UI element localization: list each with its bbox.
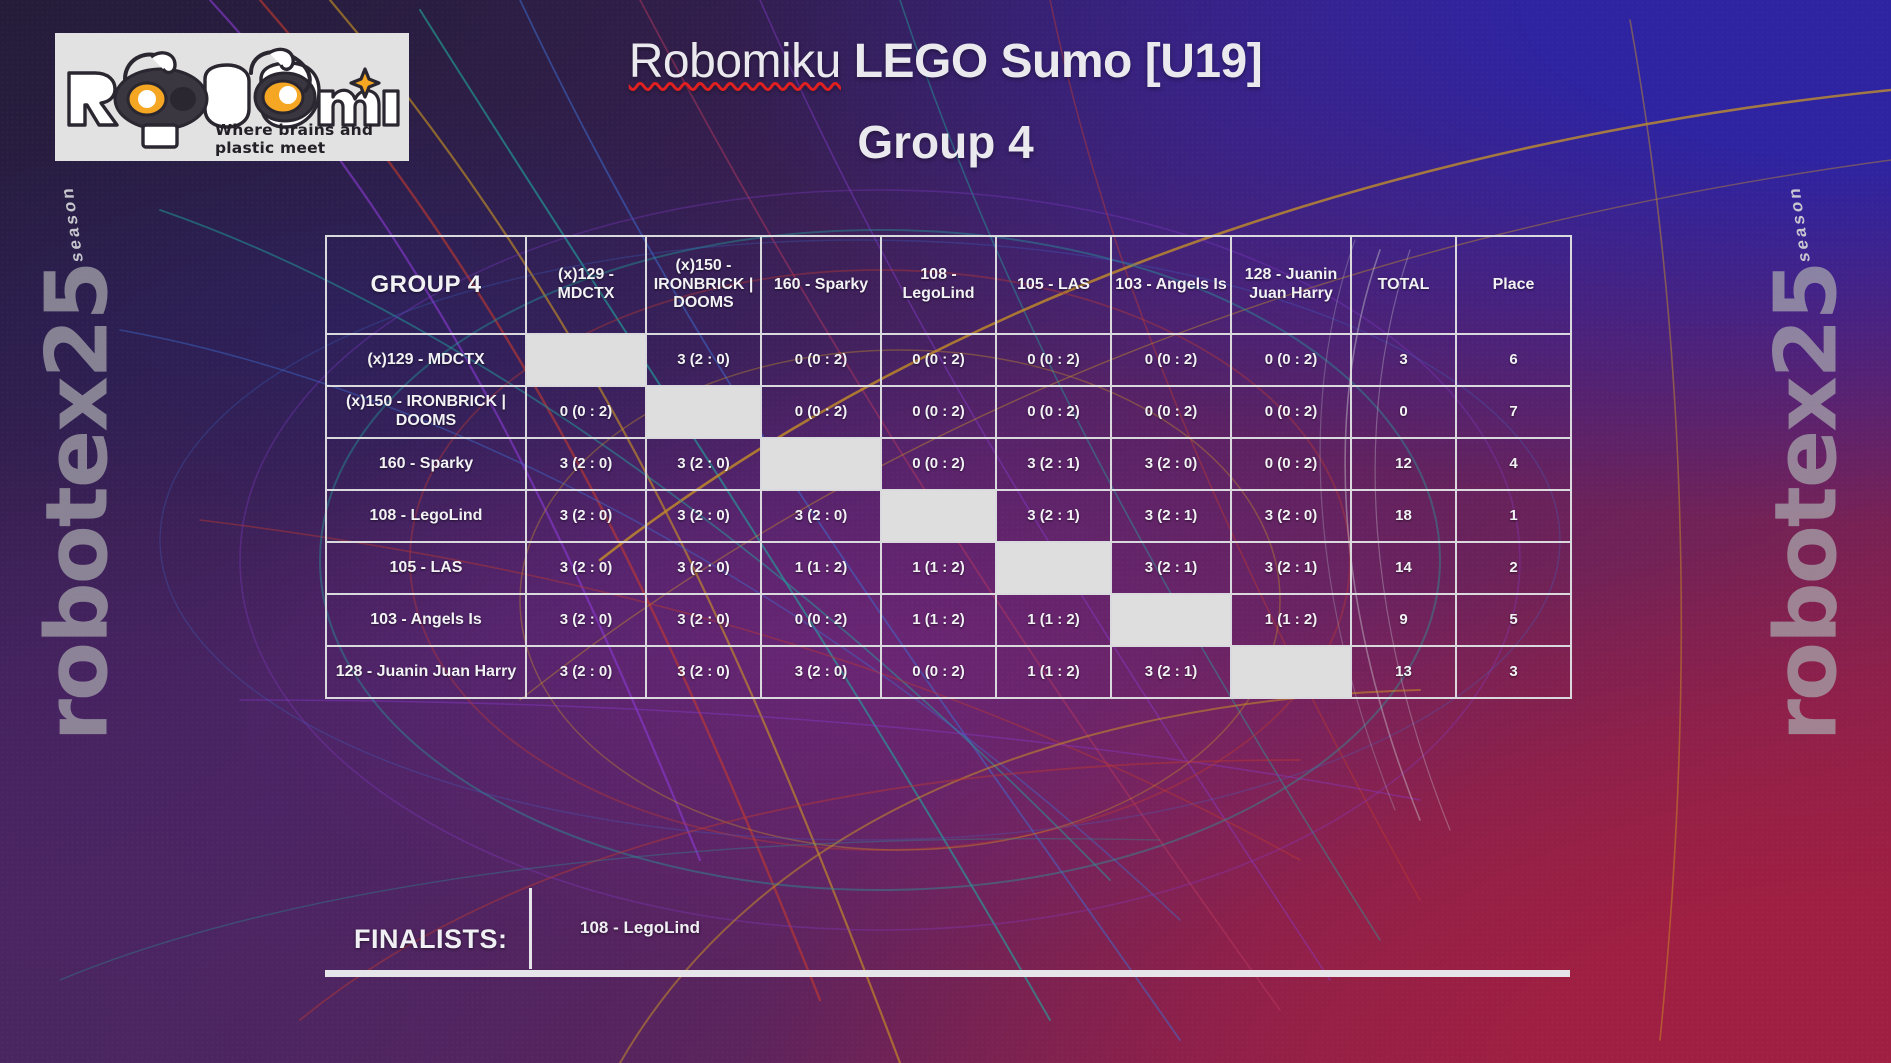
row-header-label: 103 - Angels Is bbox=[326, 594, 526, 646]
result-cell: 3 (2 : 1) bbox=[996, 490, 1111, 542]
result-cell: 3 (2 : 0) bbox=[646, 490, 761, 542]
total-cell: 14 bbox=[1351, 542, 1456, 594]
result-cell: 3 (2 : 0) bbox=[1231, 490, 1351, 542]
finalists-divider bbox=[529, 888, 532, 969]
result-cell: 1 (1 : 2) bbox=[881, 542, 996, 594]
result-cell-self bbox=[1111, 594, 1231, 646]
place-cell: 1 bbox=[1456, 490, 1571, 542]
result-cell-self bbox=[646, 386, 761, 438]
table-row: 103 - Angels Is3 (2 : 0)3 (2 : 0)0 (0 : … bbox=[326, 594, 1571, 646]
watermark-robotex-left: robotex25 bbox=[27, 263, 127, 742]
standings-table-container: GROUP 4 (x)129 - MDCTX (x)150 - IRONBRIC… bbox=[325, 235, 1572, 699]
column-header-place: Place bbox=[1456, 236, 1571, 334]
result-cell: 3 (2 : 0) bbox=[761, 646, 881, 698]
result-cell: 3 (2 : 0) bbox=[646, 646, 761, 698]
table-row: 128 - Juanin Juan Harry3 (2 : 0)3 (2 : 0… bbox=[326, 646, 1571, 698]
result-cell: 0 (0 : 2) bbox=[1111, 386, 1231, 438]
row-header-label: (x)129 - MDCTX bbox=[326, 334, 526, 386]
result-cell: 0 (0 : 2) bbox=[761, 334, 881, 386]
finalists-label: FINALISTS: bbox=[354, 924, 508, 955]
result-cell: 1 (1 : 2) bbox=[761, 542, 881, 594]
result-cell: 1 (1 : 2) bbox=[996, 594, 1111, 646]
result-cell: 0 (0 : 2) bbox=[996, 386, 1111, 438]
result-cell-self bbox=[761, 438, 881, 490]
result-cell: 1 (1 : 2) bbox=[996, 646, 1111, 698]
place-cell: 2 bbox=[1456, 542, 1571, 594]
result-cell: 3 (2 : 0) bbox=[1111, 438, 1231, 490]
result-cell: 3 (2 : 1) bbox=[1231, 542, 1351, 594]
result-cell: 0 (0 : 2) bbox=[1231, 334, 1351, 386]
total-cell: 18 bbox=[1351, 490, 1456, 542]
result-cell: 0 (0 : 2) bbox=[881, 438, 996, 490]
place-cell: 3 bbox=[1456, 646, 1571, 698]
page-subtitle: Group 4 bbox=[0, 115, 1891, 169]
result-cell: 3 (2 : 1) bbox=[996, 438, 1111, 490]
result-cell: 3 (2 : 1) bbox=[1111, 542, 1231, 594]
column-header-0: (x)129 - MDCTX bbox=[526, 236, 646, 334]
result-cell: 3 (2 : 0) bbox=[761, 490, 881, 542]
result-cell: 3 (2 : 0) bbox=[526, 594, 646, 646]
finalists-rule bbox=[325, 970, 1570, 977]
result-cell: 3 (2 : 0) bbox=[526, 646, 646, 698]
column-header-5: 103 - Angels Is bbox=[1111, 236, 1231, 334]
result-cell: 0 (0 : 2) bbox=[1111, 334, 1231, 386]
result-cell: 3 (2 : 1) bbox=[1111, 646, 1231, 698]
result-cell: 0 (0 : 2) bbox=[1231, 438, 1351, 490]
table-row: 105 - LAS3 (2 : 0)3 (2 : 0)1 (1 : 2)1 (1… bbox=[326, 542, 1571, 594]
table-row: (x)150 - IRONBRICK | DOOMS0 (0 : 2)0 (0 … bbox=[326, 386, 1571, 438]
result-cell: 3 (2 : 0) bbox=[646, 542, 761, 594]
result-cell: 0 (0 : 2) bbox=[761, 594, 881, 646]
standings-table: GROUP 4 (x)129 - MDCTX (x)150 - IRONBRIC… bbox=[325, 235, 1572, 699]
result-cell: 3 (2 : 0) bbox=[646, 334, 761, 386]
result-cell: 3 (2 : 0) bbox=[526, 542, 646, 594]
total-cell: 3 bbox=[1351, 334, 1456, 386]
total-cell: 12 bbox=[1351, 438, 1456, 490]
table-row: (x)129 - MDCTX3 (2 : 0)0 (0 : 2)0 (0 : 2… bbox=[326, 334, 1571, 386]
standings-table-body: (x)129 - MDCTX3 (2 : 0)0 (0 : 2)0 (0 : 2… bbox=[326, 334, 1571, 698]
place-cell: 4 bbox=[1456, 438, 1571, 490]
result-cell-self bbox=[1231, 646, 1351, 698]
column-header-3: 108 - LegoLind bbox=[881, 236, 996, 334]
column-header-total: TOTAL bbox=[1351, 236, 1456, 334]
place-cell: 5 bbox=[1456, 594, 1571, 646]
total-cell: 13 bbox=[1351, 646, 1456, 698]
result-cell: 3 (2 : 1) bbox=[1111, 490, 1231, 542]
result-cell: 3 (2 : 0) bbox=[646, 594, 761, 646]
result-cell: 3 (2 : 0) bbox=[526, 490, 646, 542]
table-row: 108 - LegoLind3 (2 : 0)3 (2 : 0)3 (2 : 0… bbox=[326, 490, 1571, 542]
column-header-4: 105 - LAS bbox=[996, 236, 1111, 334]
column-header-6: 128 - Juanin Juan Harry bbox=[1231, 236, 1351, 334]
result-cell: 0 (0 : 2) bbox=[996, 334, 1111, 386]
header-row: GROUP 4 (x)129 - MDCTX (x)150 - IRONBRIC… bbox=[326, 236, 1571, 334]
result-cell: 1 (1 : 2) bbox=[881, 594, 996, 646]
result-cell: 1 (1 : 2) bbox=[1231, 594, 1351, 646]
result-cell: 0 (0 : 2) bbox=[1231, 386, 1351, 438]
page-title-brand: Robomiku bbox=[629, 35, 841, 88]
result-cell: 0 (0 : 2) bbox=[881, 334, 996, 386]
row-header-label: (x)150 - IRONBRICK | DOOMS bbox=[326, 386, 526, 438]
result-cell-self bbox=[526, 334, 646, 386]
result-cell: 3 (2 : 0) bbox=[526, 438, 646, 490]
place-cell: 7 bbox=[1456, 386, 1571, 438]
row-header-label: 160 - Sparky bbox=[326, 438, 526, 490]
result-cell-self bbox=[881, 490, 996, 542]
place-cell: 6 bbox=[1456, 334, 1571, 386]
total-cell: 0 bbox=[1351, 386, 1456, 438]
result-cell: 0 (0 : 2) bbox=[881, 646, 996, 698]
page-title-rest: LEGO Sumo [U19] bbox=[841, 35, 1262, 88]
result-cell: 0 (0 : 2) bbox=[761, 386, 881, 438]
row-header-label: 108 - LegoLind bbox=[326, 490, 526, 542]
result-cell: 0 (0 : 2) bbox=[881, 386, 996, 438]
finalists-section: FINALISTS: 108 - LegoLind bbox=[325, 880, 1570, 998]
watermark-robotex-right: robotex25 bbox=[1756, 263, 1856, 742]
result-cell: 3 (2 : 0) bbox=[646, 438, 761, 490]
page-title: Robomiku LEGO Sumo [U19] bbox=[0, 34, 1891, 89]
column-header-2: 160 - Sparky bbox=[761, 236, 881, 334]
row-header-label: 105 - LAS bbox=[326, 542, 526, 594]
column-header-1: (x)150 - IRONBRICK | DOOMS bbox=[646, 236, 761, 334]
result-cell: 0 (0 : 2) bbox=[526, 386, 646, 438]
table-corner-label: GROUP 4 bbox=[326, 236, 526, 334]
finalist-name-0: 108 - LegoLind bbox=[555, 918, 725, 938]
row-header-label: 128 - Juanin Juan Harry bbox=[326, 646, 526, 698]
standings-table-head: GROUP 4 (x)129 - MDCTX (x)150 - IRONBRIC… bbox=[326, 236, 1571, 334]
table-row: 160 - Sparky3 (2 : 0)3 (2 : 0)0 (0 : 2)3… bbox=[326, 438, 1571, 490]
total-cell: 9 bbox=[1351, 594, 1456, 646]
result-cell-self bbox=[996, 542, 1111, 594]
